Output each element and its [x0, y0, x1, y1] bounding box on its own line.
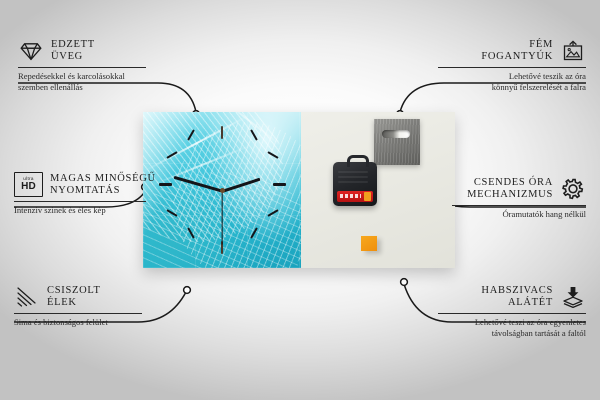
callout-description: Lehetővé teszi az óra egyenletes távolsá…: [438, 317, 586, 338]
ultra-hd-icon: ultra HD: [14, 172, 43, 198]
clock-tick: [273, 183, 286, 186]
callout-title-line2: NYOMTATÁS: [50, 185, 120, 196]
callout-description: Lehetővé teszik az óra könnyű felszerelé…: [438, 71, 586, 92]
metal-hanger-plate: [374, 119, 420, 165]
callout-divider: [14, 313, 142, 314]
callout-description: Sima és biztonságos felület: [14, 317, 162, 328]
hanger-keyhole-slot: [382, 130, 410, 138]
foam-pad: [361, 236, 377, 251]
callout-title-line1: MAGAS MINŐSÉGŰ: [50, 173, 156, 184]
ultra-hd-icon-main-label: HD: [21, 182, 36, 192]
callout-title-line1: CSENDES ÓRA: [474, 177, 553, 188]
callout-title-line2: ALÁTÉT: [508, 297, 553, 308]
callout-description: Repedésekkel és karcolásokkal szemben el…: [18, 71, 166, 92]
gear-icon: [560, 176, 586, 202]
callout-high-quality-print: ultra HD MAGAS MINŐSÉGŰ NYOMTATÁS Intenz…: [14, 172, 166, 216]
callout-title-line1: EDZETT: [51, 39, 95, 50]
battery: [337, 191, 373, 202]
clock-tick: [221, 126, 224, 139]
clock-back-panel: [301, 112, 455, 268]
callout-description: Intenzív színek és éles kép: [14, 205, 166, 216]
callout-tempered-glass: EDZETT ÜVEG Repedésekkel és karcolásokka…: [18, 38, 166, 92]
callout-divider: [14, 201, 146, 202]
callout-title-line1: HABSZIVACS: [481, 285, 553, 296]
callout-title-line1: CSISZOLT: [47, 285, 101, 296]
callout-title-line2: ÉLEK: [47, 297, 77, 308]
product-image: [143, 112, 455, 268]
callout-description: Óramutatók hang nélkül: [452, 209, 586, 220]
clock-second-hand: [221, 191, 222, 245]
callout-silent-mechanism: CSENDES ÓRA MECHANIZMUS Óramutatók hang …: [452, 176, 586, 220]
callout-title-line2: FOGANTYÚK: [481, 51, 553, 62]
callout-foam-pad: HABSZIVACS ALÁTÉT Lehetővé teszi az óra …: [438, 284, 586, 338]
callout-title-line2: ÜVEG: [51, 51, 83, 62]
clock-face-panel: [143, 112, 301, 268]
callout-divider: [438, 313, 586, 314]
polished-edges-icon: [14, 284, 40, 310]
infographic-canvas: EDZETT ÜVEG Repedésekkel és karcolásokka…: [0, 0, 600, 400]
clock-mechanism: [333, 162, 377, 206]
diamond-icon: [18, 38, 44, 64]
callout-metal-handles: FÉM FOGANTYÚK Lehetővé teszik az óra kön…: [438, 38, 586, 92]
picture-hanger-icon: [560, 38, 586, 64]
callout-title-line1: FÉM: [529, 39, 553, 50]
clock-centre-hub: [220, 188, 225, 193]
callout-divider: [18, 67, 146, 68]
foam-pad-icon: [560, 284, 586, 310]
callout-title-line2: MECHANIZMUS: [467, 189, 553, 200]
callout-divider: [438, 67, 586, 68]
marker-polished-edges: [184, 287, 191, 294]
marker-foam-pad: [401, 279, 408, 286]
callout-divider: [452, 205, 586, 206]
callout-polished-edges: CSISZOLT ÉLEK Sima és biztonságos felüle…: [14, 284, 162, 328]
